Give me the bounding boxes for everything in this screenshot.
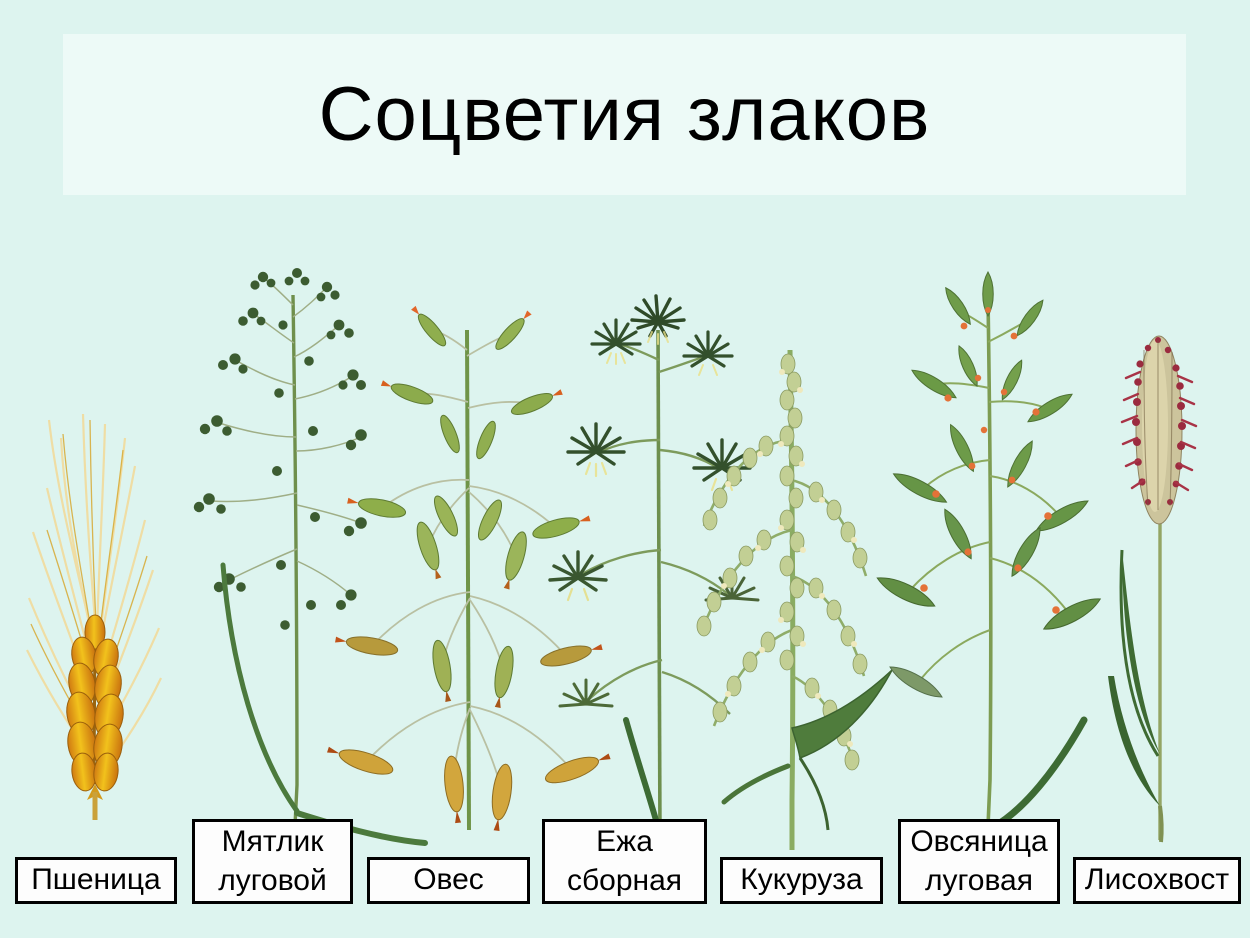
plant-illustration-maize <box>640 330 890 860</box>
plant-label-line: Пшеница <box>31 861 161 899</box>
plant-label-meadow-grass[interactable]: Мятлик луговой <box>192 819 353 904</box>
title-panel: Соцветия злаков <box>63 34 1186 195</box>
plant-label-cocksfoot[interactable]: Ежа сборная <box>542 819 707 904</box>
plant-label-line: Ежа <box>596 823 653 861</box>
plant-label-line: луговой <box>218 862 327 900</box>
plant-illustration-foxtail <box>1100 320 1250 860</box>
plant-label-maize[interactable]: Кукуруза <box>720 857 883 904</box>
plant-label-line: сборная <box>567 862 682 900</box>
plant-label-line: Овсяница <box>910 823 1047 861</box>
plant-label-foxtail[interactable]: Лисохвост <box>1073 857 1241 904</box>
plant-label-fescue[interactable]: Овсяница луговая <box>898 819 1060 904</box>
plant-label-oat[interactable]: Овес <box>367 857 530 904</box>
plant-label-line: Лисохвост <box>1085 861 1229 899</box>
plant-label-line: Кукуруза <box>740 861 862 899</box>
plant-illustration-fescue <box>880 280 1090 850</box>
page-title: Соцветия злаков <box>319 77 931 153</box>
plant-label-wheat[interactable]: Пшеница <box>15 857 177 904</box>
plant-label-line: Овес <box>413 861 484 899</box>
plant-illustration-wheat <box>5 380 180 820</box>
plant-label-line: луговая <box>925 862 1033 900</box>
plant-label-line: Мятлик <box>222 823 324 861</box>
slide-canvas: Соцветия злаков <box>0 0 1250 938</box>
